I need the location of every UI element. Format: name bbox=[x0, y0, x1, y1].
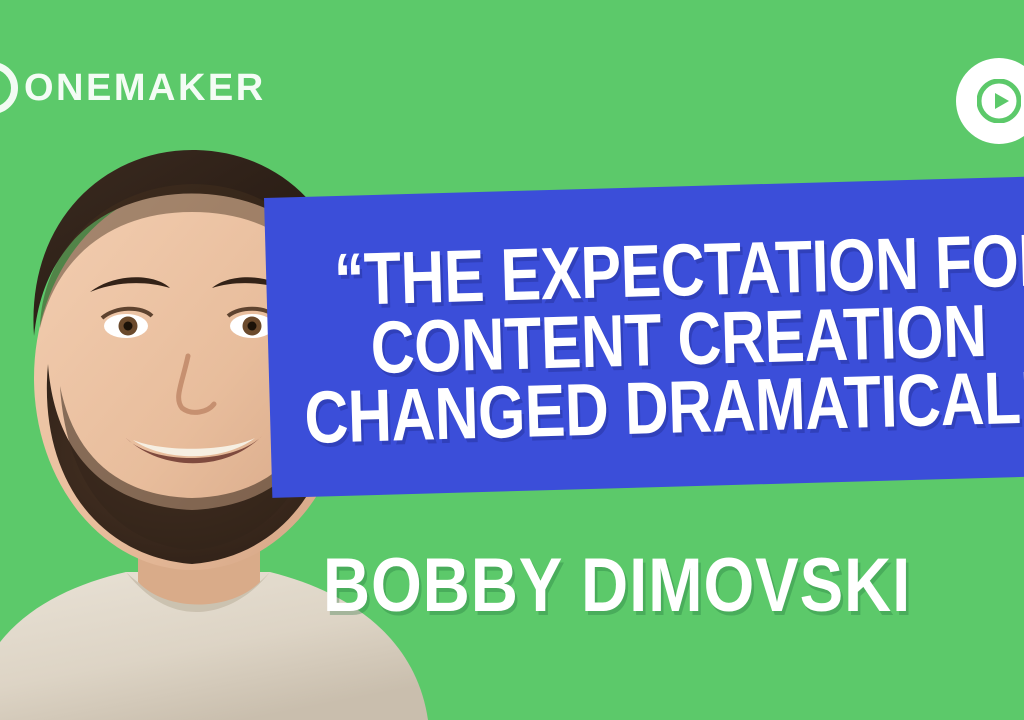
quote-banner bbox=[264, 176, 1024, 498]
video-thumbnail: “THE EXPECTATION FOR CONTENT CREATION CH… bbox=[0, 0, 1024, 720]
speaker-name-text: BOBBY DIMOVSKI bbox=[323, 548, 911, 624]
brand-logo: ONEMAKER bbox=[0, 62, 266, 114]
speaker-name: BOBBY DIMOVSKI bbox=[0, 548, 1024, 624]
circle-o-logo-icon bbox=[0, 62, 18, 114]
brand-wordmark: ONEMAKER bbox=[24, 69, 266, 107]
